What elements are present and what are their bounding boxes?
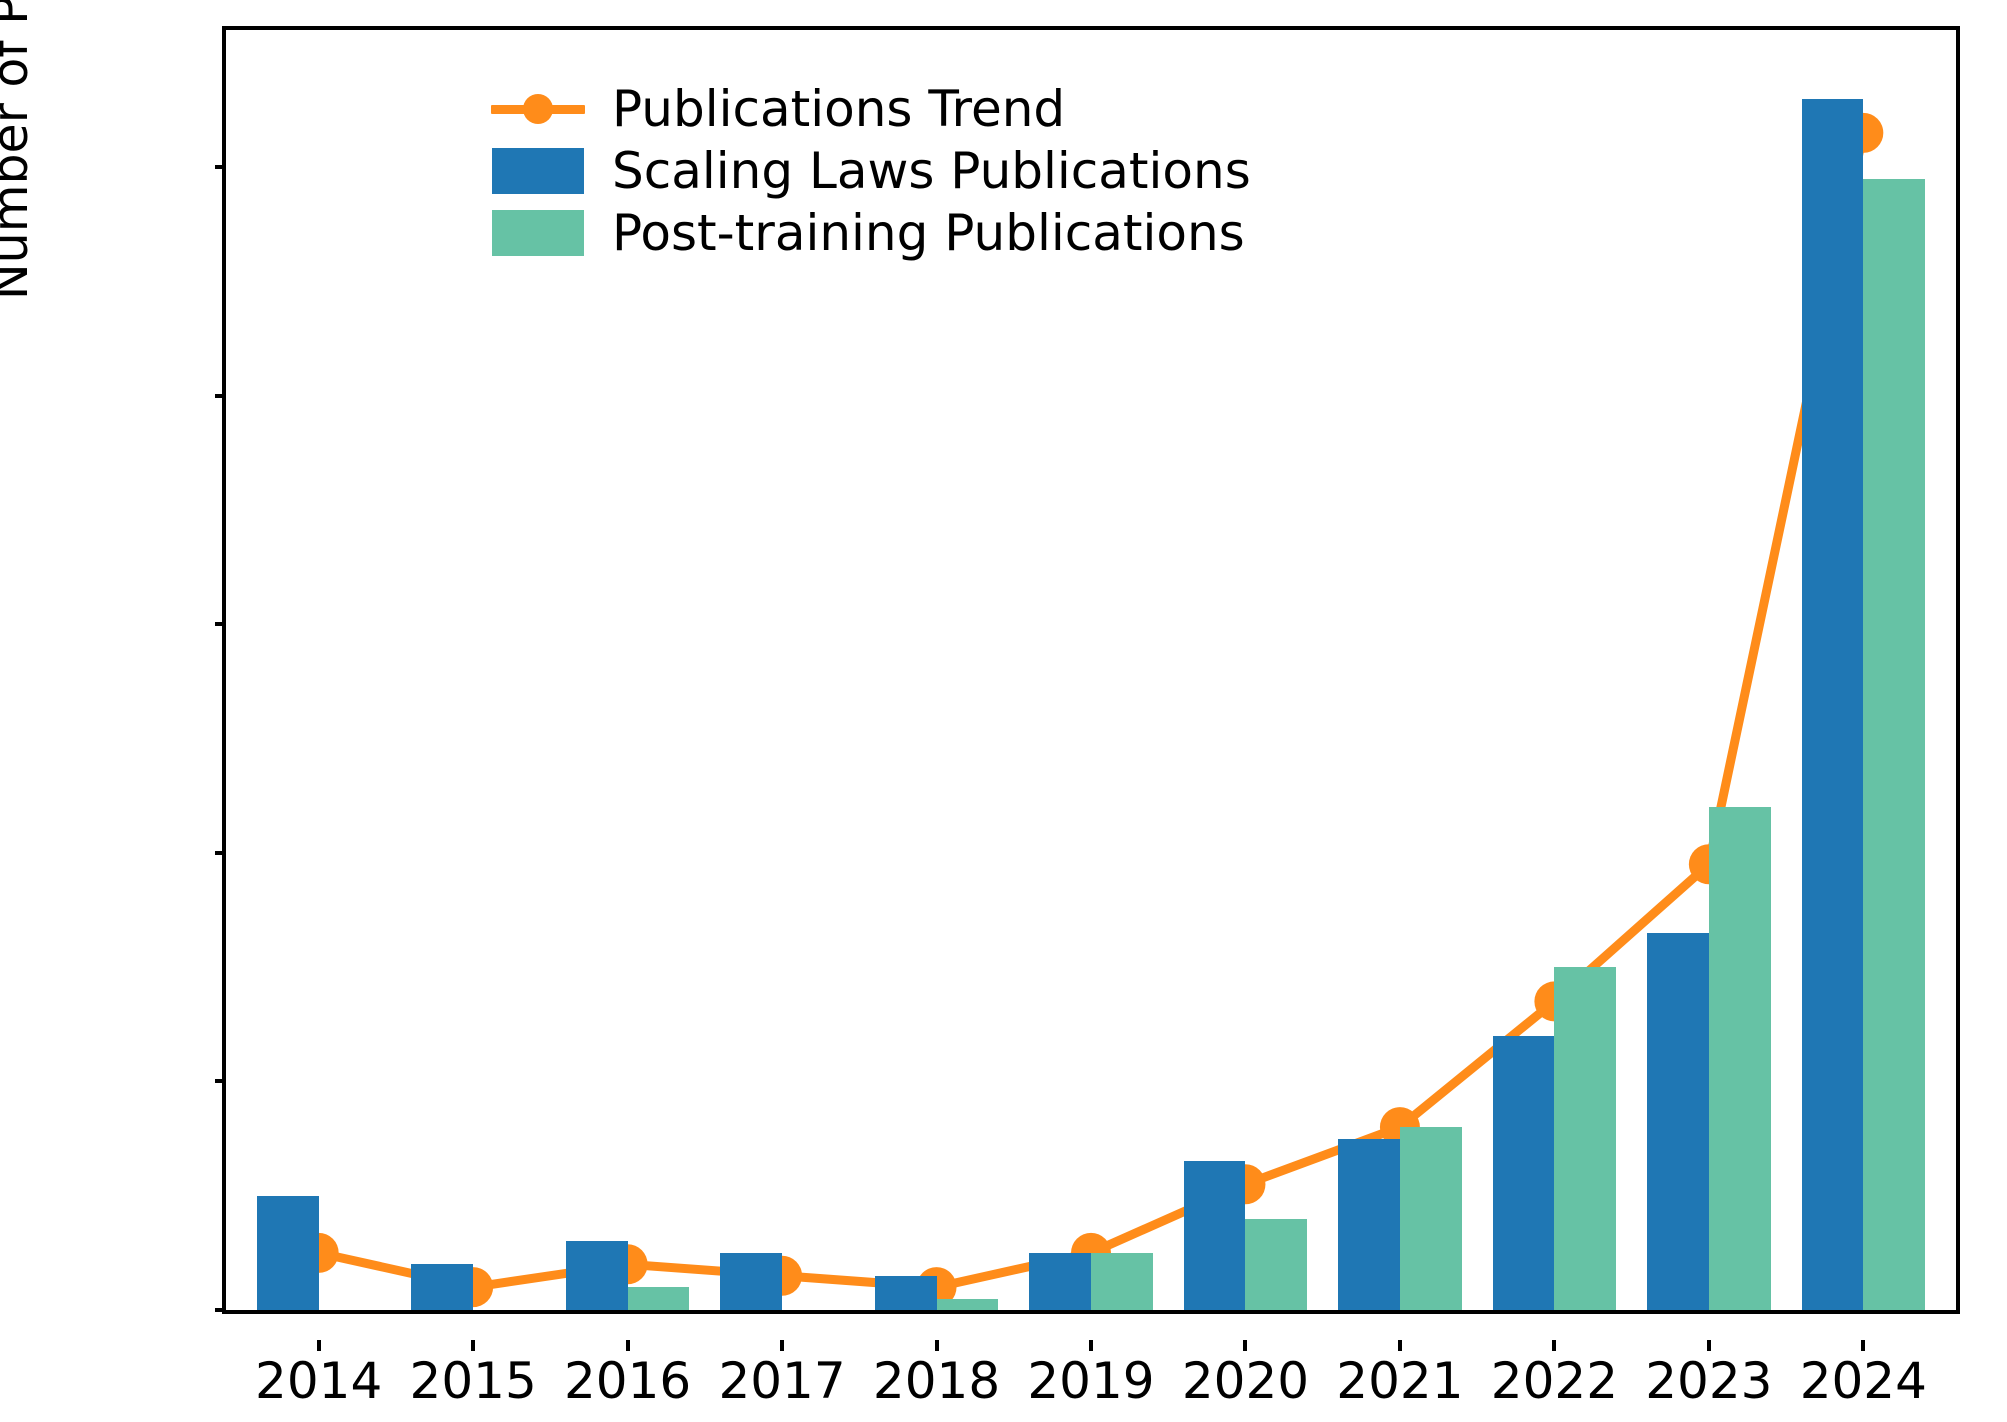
legend-swatch-post-training xyxy=(488,210,588,256)
trend-markers xyxy=(299,113,1884,1307)
bar-scaling-laws-2024 xyxy=(1802,99,1864,1310)
legend-label-post-training: Post-training Publications xyxy=(588,208,1245,258)
bar-scaling-laws-2019 xyxy=(1029,1253,1091,1310)
bar-post-training-2019 xyxy=(1091,1253,1153,1310)
y-tick-mark-0 xyxy=(215,1308,226,1312)
legend-item-scaling-laws[interactable]: Scaling Laws Publications xyxy=(488,140,1228,202)
plot-axes: Publications Trend Scaling Laws Publicat… xyxy=(222,26,1960,1314)
bar-post-training-2022 xyxy=(1554,967,1616,1310)
x-tick-mark-2016 xyxy=(626,1340,630,1351)
circle-marker-icon xyxy=(523,94,553,124)
trend-line xyxy=(319,133,1864,1287)
bar-scaling-laws-2018 xyxy=(875,1276,937,1310)
x-tick-mark-2020 xyxy=(1243,1340,1247,1351)
legend-label-trend: Publications Trend xyxy=(588,84,1065,134)
legend-item-post-training[interactable]: Post-training Publications xyxy=(488,202,1228,264)
patch-icon-post-training xyxy=(492,210,584,256)
bar-post-training-2021 xyxy=(1400,1127,1462,1310)
y-tick-mark-60 xyxy=(215,622,226,626)
y-tick-mark-100 xyxy=(215,165,226,169)
bar-post-training-2023 xyxy=(1709,807,1771,1310)
bar-scaling-laws-2021 xyxy=(1338,1139,1400,1310)
x-tick-mark-2022 xyxy=(1552,1340,1556,1351)
bar-scaling-laws-2022 xyxy=(1493,1036,1555,1310)
bar-scaling-laws-2017 xyxy=(720,1253,782,1310)
x-tick-mark-2014 xyxy=(317,1340,321,1351)
bar-post-training-2016 xyxy=(628,1287,690,1310)
bar-scaling-laws-2014 xyxy=(257,1196,319,1310)
bar-scaling-laws-2016 xyxy=(566,1241,628,1310)
x-tick-mark-2018 xyxy=(935,1340,939,1351)
y-tick-mark-20 xyxy=(215,1079,226,1083)
bar-scaling-laws-2015 xyxy=(411,1264,473,1310)
x-tick-mark-2015 xyxy=(471,1340,475,1351)
bar-scaling-laws-2023 xyxy=(1647,933,1709,1310)
bar-post-training-2020 xyxy=(1245,1219,1307,1310)
x-tick-label-2024: 2024 xyxy=(1743,1352,1983,1410)
x-tick-mark-2017 xyxy=(780,1340,784,1351)
legend-item-publications-trend[interactable]: Publications Trend xyxy=(488,78,1228,140)
y-tick-mark-80 xyxy=(215,394,226,398)
x-tick-mark-2023 xyxy=(1707,1340,1711,1351)
legend-swatch-scaling-laws xyxy=(488,148,588,194)
legend-label-scaling-laws: Scaling Laws Publications xyxy=(588,146,1251,196)
legend-swatch-trend xyxy=(488,105,588,114)
bar-scaling-laws-2020 xyxy=(1184,1161,1246,1310)
x-tick-mark-2019 xyxy=(1089,1340,1093,1351)
chart-figure: Number of Publications Publications Tren… xyxy=(0,0,2007,1422)
x-tick-mark-2024 xyxy=(1861,1340,1865,1351)
x-tick-mark-2021 xyxy=(1398,1340,1402,1351)
bar-post-training-2018 xyxy=(937,1299,999,1310)
chart-legend: Publications Trend Scaling Laws Publicat… xyxy=(488,78,1228,264)
patch-icon-scaling-laws xyxy=(492,148,584,194)
y-tick-mark-40 xyxy=(215,851,226,855)
y-axis-label: Number of Publications xyxy=(0,0,39,300)
line-marker-icon xyxy=(491,105,585,114)
bar-post-training-2024 xyxy=(1863,179,1925,1310)
